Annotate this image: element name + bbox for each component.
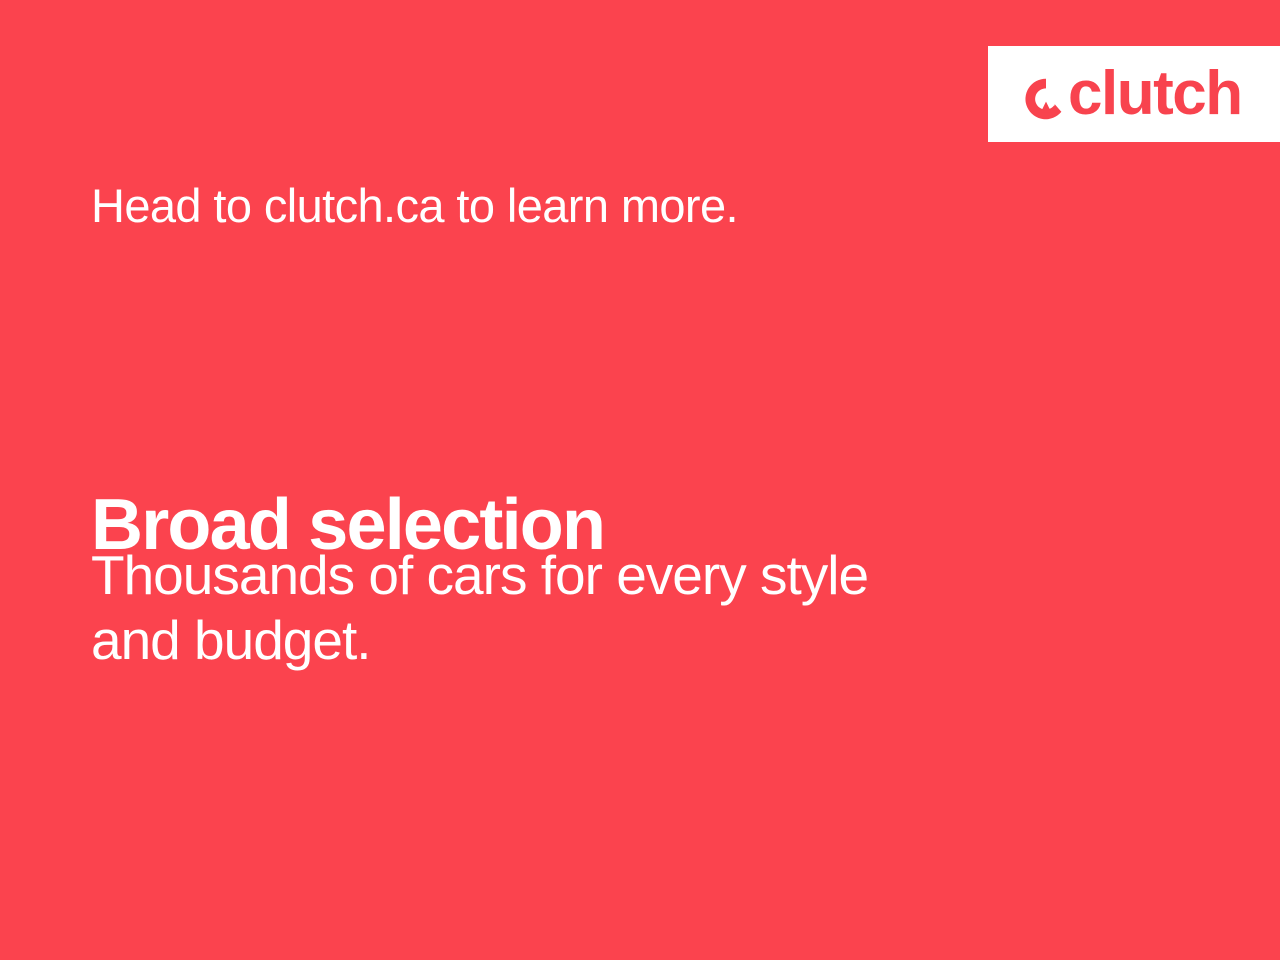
kicker-text: Head to clutch.ca to learn more. [91,180,738,232]
clutch-logo-lockup: clutch [1024,63,1242,125]
subhead-line-1: Thousands of cars for every style [91,543,1051,608]
slide-canvas: clutch Head to clutch.ca to learn more. … [0,0,1280,960]
clutch-c-mark-icon [1024,77,1068,121]
clutch-wordmark: clutch [1068,63,1242,125]
subhead-line-2: and budget. [91,608,1051,673]
clutch-logo-badge: clutch [988,46,1280,142]
subhead-text: Thousands of cars for every style and bu… [91,543,1051,673]
